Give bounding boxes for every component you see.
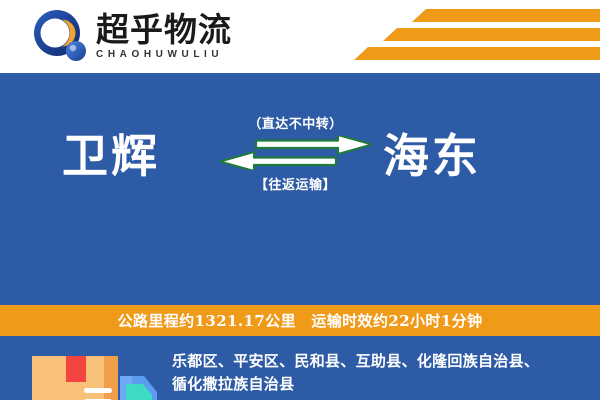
brand-logo: 超乎物流 CHAOHUWULIU <box>32 9 232 64</box>
route-note-direct: （直达不中转） <box>218 113 373 132</box>
origin-city: 卫辉 <box>62 120 160 186</box>
route-note-roundtrip: 【往返运输】 <box>218 174 373 193</box>
distance-duration-text: 公路里程约1321.17公里 运输时效约22小时1分钟 <box>118 310 483 331</box>
brand-text: 超乎物流 CHAOHUWULIU <box>96 13 232 61</box>
circle-crescent-logo-icon <box>32 9 90 64</box>
brand-name-en: CHAOHUWULIU <box>96 49 232 60</box>
coverage-section: 乐都区、平安区、民和县、互助县、化隆回族自治县、 循化撒拉族自治县 <box>0 336 600 400</box>
banner-header: 超乎物流 CHAOHUWULIU <box>0 0 600 73</box>
coverage-line-1: 乐都区、平安区、民和县、互助县、化隆回族自治县、 <box>172 350 582 373</box>
double-arrow-icon <box>220 136 372 170</box>
main-panel: 卫辉 （直达不中转） 【往返运输】 海东 公路里程约1321.17公里 运输时效… <box>0 73 600 400</box>
coverage-areas-text: 乐都区、平安区、民和县、互助县、化隆回族自治县、 循化撒拉族自治县 <box>172 350 582 397</box>
coverage-line-2: 循化撒拉族自治县 <box>172 373 582 396</box>
delivery-truck-icon <box>26 348 166 400</box>
decorative-stripes <box>340 6 600 68</box>
stripe-2 <box>383 28 600 41</box>
brand-name-cn: 超乎物流 <box>96 13 232 48</box>
route-middle: （直达不中转） 【往返运输】 <box>218 113 373 193</box>
logistics-route-banner: 超乎物流 CHAOHUWULIU 卫辉 （直达不中转） <box>0 0 600 400</box>
stripe-3 <box>354 47 600 60</box>
destination-city: 海东 <box>383 120 481 186</box>
distance-duration-bar: 公路里程约1321.17公里 运输时效约22小时1分钟 <box>0 305 600 336</box>
route-display: 卫辉 （直达不中转） 【往返运输】 海东 <box>0 73 600 232</box>
stripe-1 <box>412 9 600 22</box>
